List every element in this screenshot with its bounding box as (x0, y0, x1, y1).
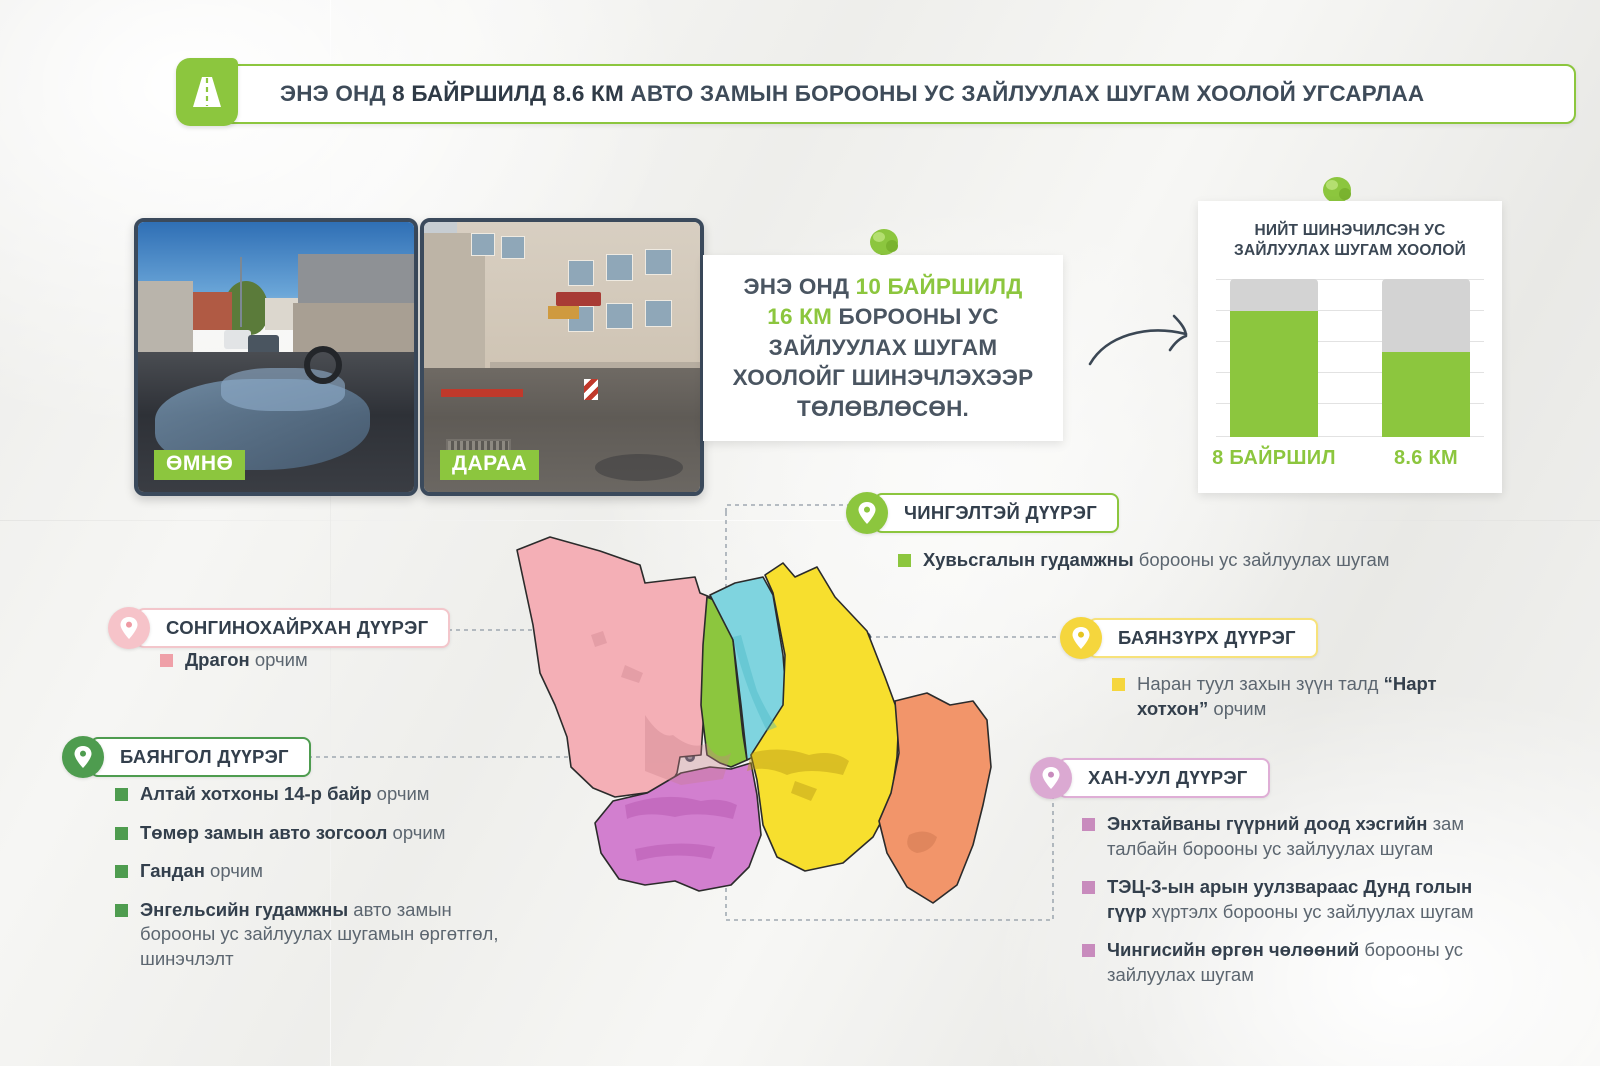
badge-label: ХАН-УУЛ ДҮҮРЭГ (1058, 758, 1270, 798)
list-item: Алтай хотхоны 14-р байр орчим (115, 782, 515, 807)
list-item: ТЭЦ-3-ын арын уулзвараас Дунд голын гүүр… (1082, 875, 1502, 924)
list-item-text: Төмөр замын авто зогсоол орчим (140, 821, 445, 846)
photo-before-label: ӨМНӨ (154, 450, 245, 480)
location-pin-icon (846, 492, 888, 534)
arrow-icon (1082, 302, 1202, 378)
chart-title: НИЙТ ШИНЭЧИЛСЭН УС ЗАЙЛУУЛАХ ШУГАМ ХООЛО… (1198, 221, 1502, 261)
summary-chart-card: НИЙТ ШИНЭЧИЛСЭН УС ЗАЙЛУУЛАХ ШУГАМ ХООЛО… (1198, 201, 1502, 493)
bullet-icon (115, 904, 128, 917)
page-header: ЭНЭ ОНД 8 БАЙРШИЛД 8.6 КМ АВТО ЗАМЫН БОР… (176, 58, 1572, 126)
list-item: Төмөр замын авто зогсоол орчим (115, 821, 515, 846)
bullet-icon (115, 788, 128, 801)
list-item-text: Наран туул захын зүүн талд “Нарт хотхон”… (1137, 672, 1512, 721)
bullet-icon (1082, 881, 1095, 894)
location-pin-icon (62, 736, 104, 778)
list-chingeltei: Хувьсгалын гудамжны борооны ус зайлуулах… (898, 548, 1498, 587)
badge-label: СОНГИНОХАЙРХАН ДҮҮРЭГ (136, 608, 450, 648)
location-pin-icon (108, 607, 150, 649)
list-item-text: Чингисийн өргөн чөлөөний борооны ус зайл… (1107, 938, 1502, 987)
badge-songinokhairkhan[interactable]: СОНГИНОХАЙРХАН ДҮҮРЭГ (108, 607, 450, 649)
badge-chingeltei[interactable]: ЧИНГЭЛТЭЙ ДҮҮРЭГ (846, 492, 1119, 534)
badge-bayangol[interactable]: БАЯНГОЛ ДҮҮРЭГ (62, 736, 311, 778)
bullet-icon (160, 654, 173, 667)
list-item: Чингисийн өргөн чөлөөний борооны ус зайл… (1082, 938, 1502, 987)
bullet-icon (115, 865, 128, 878)
list-item: Драгон орчим (160, 648, 490, 673)
list-item-text: Энхтайваны гүүрний доод хэсгийн зам талб… (1107, 812, 1502, 861)
chart-plot-area (1216, 279, 1484, 437)
badge-khan-uul[interactable]: ХАН-УУЛ ДҮҮРЭГ (1030, 757, 1270, 799)
chart-label-locations: 8 БАЙРШИЛ (1198, 447, 1350, 470)
header-banner: ЭНЭ ОНД 8 БАЙРШИЛД 8.6 КМ АВТО ЗАМЫН БОР… (222, 64, 1576, 124)
bar-locations (1230, 279, 1318, 437)
bar-kilometers (1382, 279, 1470, 437)
location-pin-icon (1030, 757, 1072, 799)
list-khan-uul: Энхтайваны гүүрний доод хэсгийн зам талб… (1082, 812, 1502, 1002)
list-item: Энхтайваны гүүрний доод хэсгийн зам талб… (1082, 812, 1502, 861)
bar-locations-fill (1230, 311, 1318, 437)
plan-callout-text: ЭНЭ ОНД 10 БАЙРШИЛД16 КМ БОРООНЫ УСЗАЙЛУ… (733, 272, 1034, 425)
plan-callout: ЭНЭ ОНД 10 БАЙРШИЛД16 КМ БОРООНЫ УСЗАЙЛУ… (703, 255, 1063, 441)
list-item-text: Гандан орчим (140, 859, 263, 884)
list-songinokhairkhan: Драгон орчим (160, 648, 490, 687)
chart-label-kilometers: 8.6 КМ (1350, 447, 1502, 470)
list-bayangol: Алтай хотхоны 14-р байр орчим Төмөр замы… (115, 782, 515, 986)
list-item: Наран туул захын зүүн талд “Нарт хотхон”… (1112, 672, 1512, 721)
photo-after-label: ДАРАА (440, 450, 539, 480)
bullet-icon (115, 827, 128, 840)
location-pin-icon (1060, 617, 1102, 659)
list-item-text: Драгон орчим (185, 648, 308, 673)
page-title: ЭНЭ ОНД 8 БАЙРШИЛД 8.6 КМ АВТО ЗАМЫН БОР… (280, 81, 1424, 107)
bullet-icon (1112, 678, 1125, 691)
list-item: Энгельсийн гудамжны авто замын борооны у… (115, 898, 515, 972)
badge-label: БАЯНЗҮРХ ДҮҮРЭГ (1088, 618, 1318, 658)
list-item: Гандан орчим (115, 859, 515, 884)
road-icon (176, 58, 238, 126)
badge-bayanzurkh[interactable]: БАЯНЗҮРХ ДҮҮРЭГ (1060, 617, 1318, 659)
list-bayanzurkh: Наран туул захын зүүн талд “Нарт хотхон”… (1112, 672, 1512, 735)
bar-kilometers-fill (1382, 352, 1470, 437)
photo-before: ӨМНӨ (134, 218, 418, 496)
badge-label: ЧИНГЭЛТЭЙ ДҮҮРЭГ (874, 493, 1119, 533)
list-item-text: Хувьсгалын гудамжны борооны ус зайлуулах… (923, 548, 1390, 573)
list-item-text: ТЭЦ-3-ын арын уулзвараас Дунд голын гүүр… (1107, 875, 1502, 924)
list-item-text: Алтай хотхоны 14-р байр орчим (140, 782, 430, 807)
chart-category-labels: 8 БАЙРШИЛ 8.6 КМ (1198, 447, 1502, 470)
bullet-icon (1082, 818, 1095, 831)
bullet-icon (1082, 944, 1095, 957)
bullet-icon (898, 554, 911, 567)
photo-after: ДАРАА (420, 218, 704, 496)
list-item: Хувьсгалын гудамжны борооны ус зайлуулах… (898, 548, 1498, 573)
list-item-text: Энгельсийн гудамжны авто замын борооны у… (140, 898, 515, 972)
badge-label: БАЯНГОЛ ДҮҮРЭГ (90, 737, 311, 777)
